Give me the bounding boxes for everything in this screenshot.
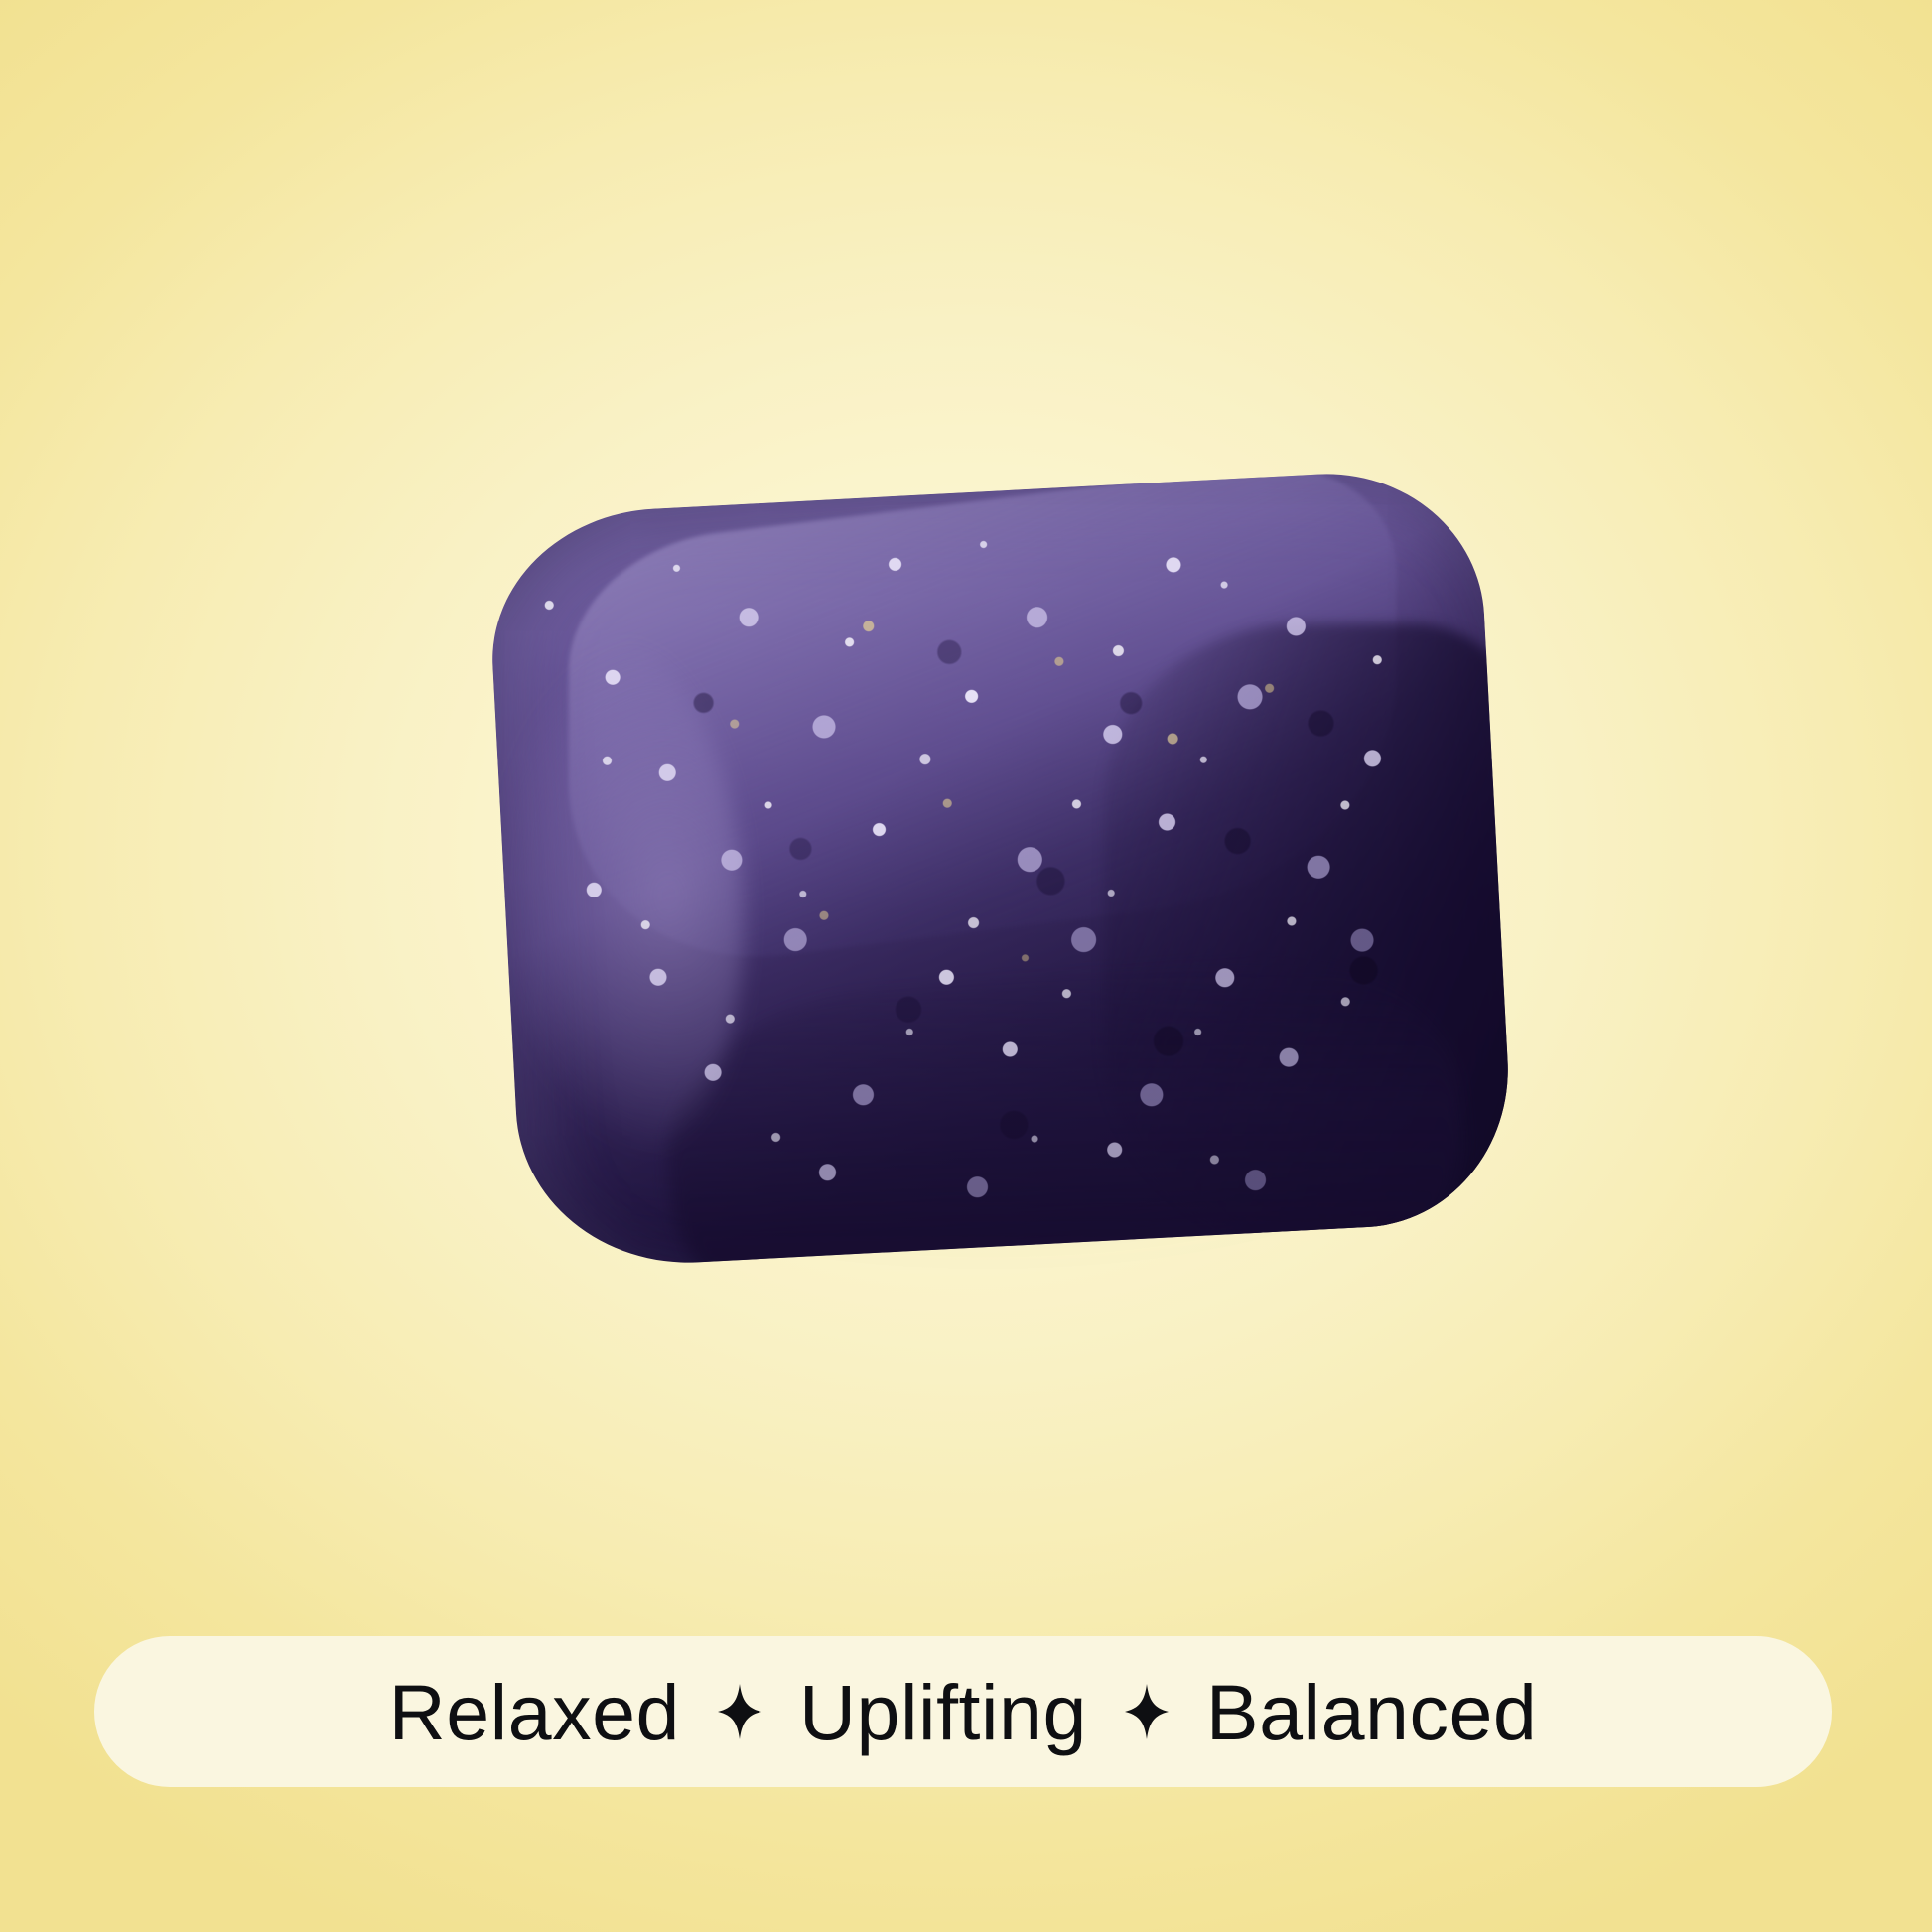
benefit-label-uplifting: Uplifting [799,1673,1087,1751]
benefits-pill: Relaxed Uplifting Balanced [94,1636,1832,1787]
benefit-label-balanced: Balanced [1206,1673,1537,1751]
sparkle-diamond-icon-2 [1087,1684,1206,1739]
gummy-candy [445,425,1550,1323]
gummy-body [485,466,1516,1271]
product-image-tile: Relaxed Uplifting Balanced [0,0,1932,1932]
sparkle-diamond-icon [680,1684,799,1739]
benefit-label-relaxed: Relaxed [389,1673,680,1751]
product-photo [467,452,1529,1296]
gummy-front-face [654,941,1475,1272]
